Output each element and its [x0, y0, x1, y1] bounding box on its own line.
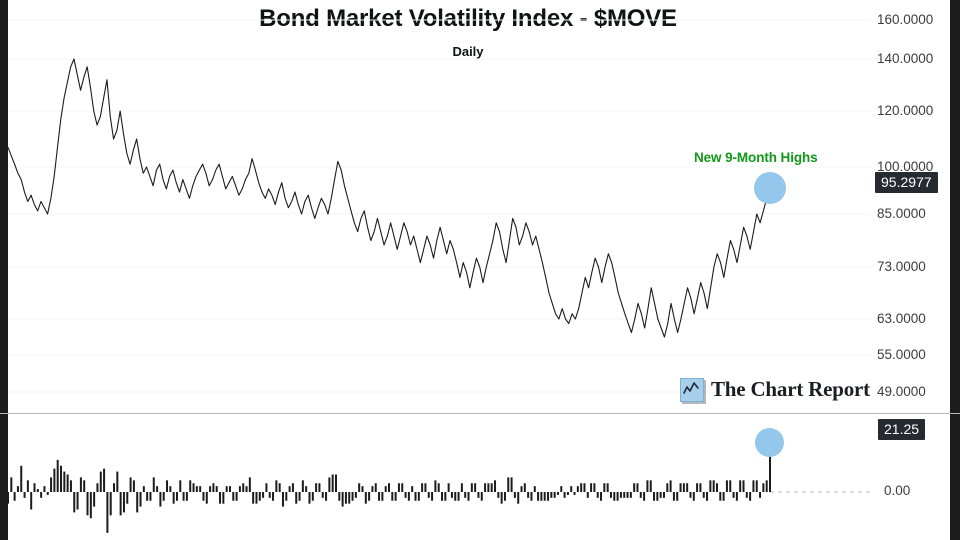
chart-line-logo-icon — [680, 378, 704, 402]
price-y-axis[interactable]: 160.0000140.0000120.0000100.000085.00007… — [872, 0, 950, 413]
volume-axis-tick-zero: 0.00 — [884, 483, 910, 498]
price-gridlines — [8, 20, 870, 392]
price-axis-tick: 120.0000 — [877, 103, 933, 118]
volume-chart-panel[interactable] — [8, 414, 870, 540]
price-chart-panel[interactable] — [8, 0, 870, 413]
watermark: The Chart Report — [680, 377, 870, 402]
volume-y-axis[interactable]: 0.0021.25 — [872, 414, 950, 540]
price-axis-tick: 63.0000 — [877, 311, 926, 326]
price-axis-tick: 73.0000 — [877, 259, 926, 274]
price-highlight-marker — [754, 172, 786, 204]
left-edge-bar — [0, 0, 8, 540]
price-axis-tick: 49.0000 — [877, 384, 926, 399]
volume-bar-plot — [8, 414, 870, 540]
price-axis-tick: 55.0000 — [877, 347, 926, 362]
volume-highlight-marker — [755, 428, 784, 457]
price-axis-tick: 160.0000 — [877, 12, 933, 27]
price-axis-tick: 85.0000 — [877, 206, 926, 221]
price-line-series — [8, 59, 770, 337]
price-axis-tick: 140.0000 — [877, 51, 933, 66]
volume-bars — [8, 430, 771, 533]
watermark-text: The Chart Report — [711, 377, 870, 402]
annotation-label: New 9-Month Highs — [694, 150, 818, 165]
right-edge-bar — [950, 0, 960, 540]
price-last-value-badge: 95.2977 — [875, 172, 938, 193]
chart-screenshot: Bond Market Volatility Index - $MOVE Dai… — [0, 0, 960, 540]
price-line-plot — [8, 0, 870, 413]
volume-last-value-badge: 21.25 — [878, 419, 925, 440]
